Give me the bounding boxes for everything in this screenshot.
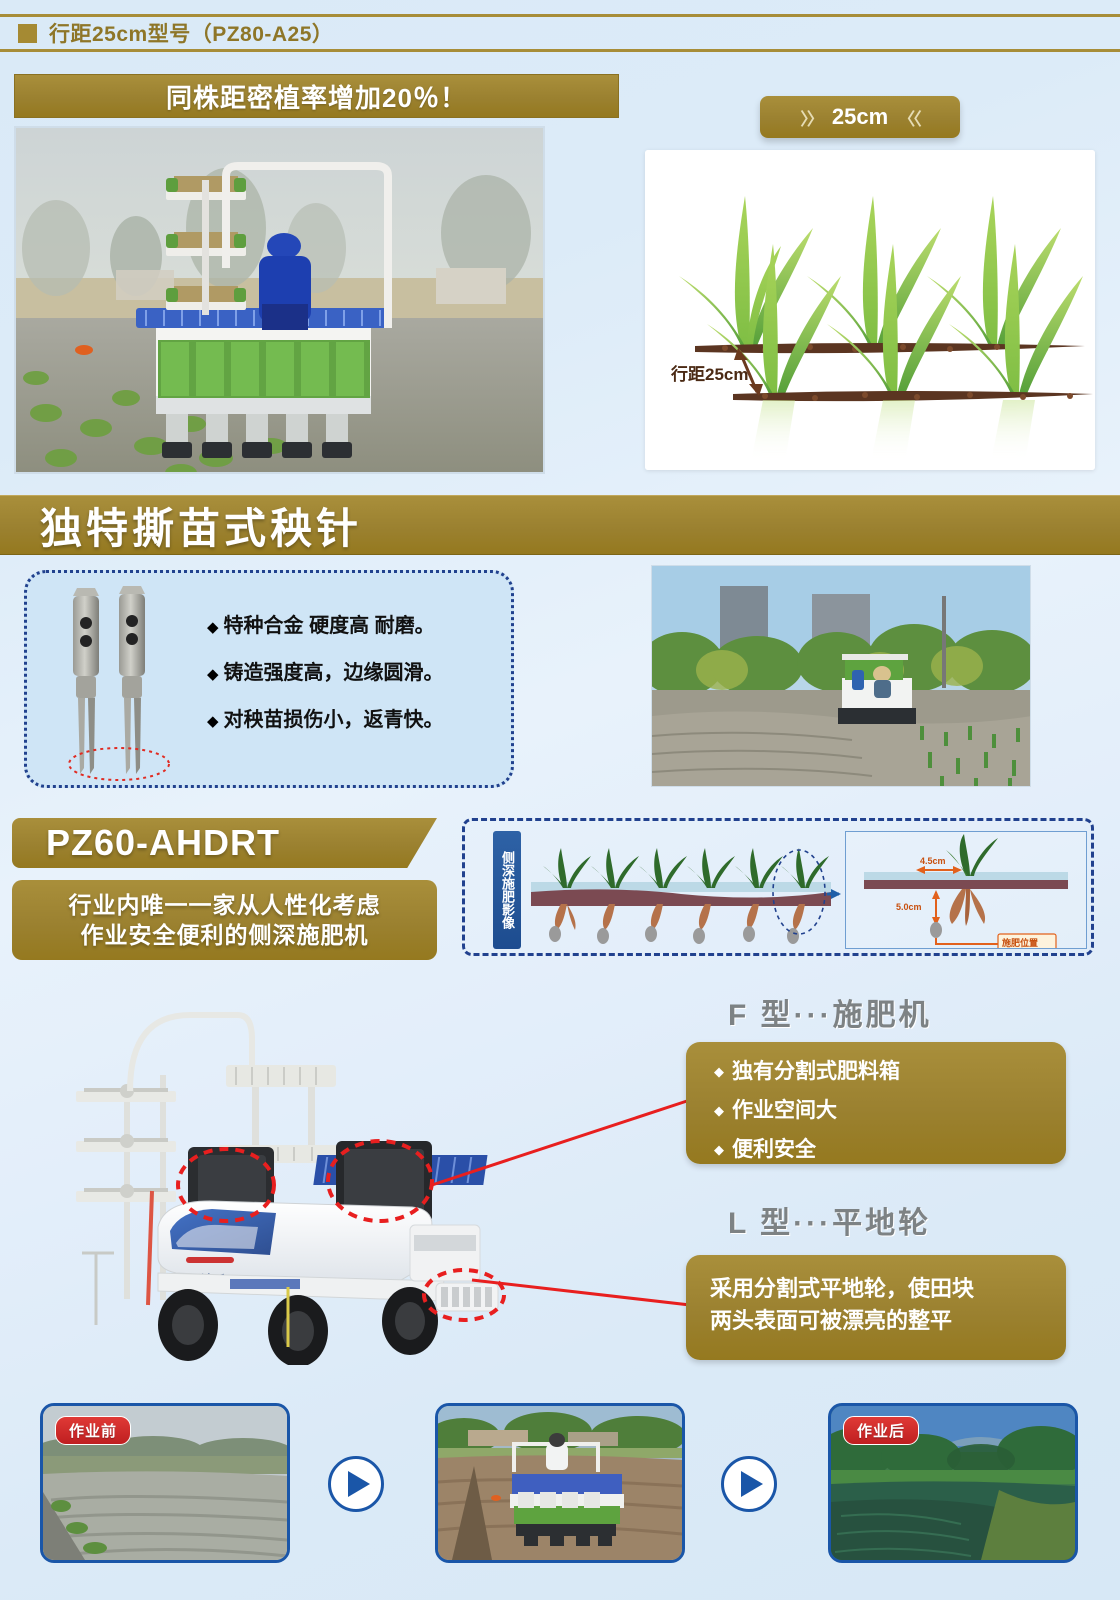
before-tag-badge: 作业前 (55, 1416, 131, 1445)
square-marker-icon (18, 24, 37, 43)
diamond-bullet-icon: ◆ (714, 1103, 724, 1118)
pz60-machine-photo: 神禾 (40, 995, 660, 1365)
fert-vertical-label-text: 侧深施肥影像 (500, 851, 514, 929)
density-banner: 同株距密植率增加20％！ (14, 74, 619, 118)
leveling-wheel (436, 1283, 498, 1311)
list-item: ◆独有分割式肥料箱 (714, 1055, 1066, 1085)
transplanter-photo-art (16, 128, 545, 474)
list-item: ◆对秧苗损伤小，返青快。 (207, 703, 507, 732)
l-type-line-1: 采用分割式平地轮，使田块 (710, 1273, 1066, 1305)
page-header: 行距25cm型号（PZ80-A25） (0, 14, 1120, 52)
fertilizer-position-label: 施肥位置 (1002, 937, 1038, 948)
row-spacing-diagram: 行距25cm (645, 150, 1095, 470)
needle-banner: 独特撕苗式秧针 (0, 495, 1120, 555)
field-work-photo-art (652, 566, 1031, 787)
after-operation-photo: 作业后 (828, 1403, 1078, 1563)
model-name-tag: PZ60-AHDRT (12, 818, 437, 868)
fert-depth-illustration: 4.5cm 5.0cm 施肥位置 (846, 832, 1086, 948)
f-type-bullet-text: 独有分割式肥料箱 (732, 1060, 900, 1083)
row-spacing-badge: 〉〉 25cm 〈〈 (760, 96, 960, 138)
list-item: ◆铸造强度高，边缘圆滑。 (207, 656, 507, 685)
needle-bullet-text: 特种合金 硬度高 耐磨。 (224, 615, 435, 637)
row-spacing-value: 25cm (832, 104, 888, 130)
diamond-bullet-icon: ◆ (207, 666, 219, 683)
play-triangle-icon (348, 1471, 370, 1497)
needle-bullet-list: ◆特种合金 硬度高 耐磨。 ◆铸造强度高，边缘圆滑。 ◆对秧苗损伤小，返青快。 (207, 609, 507, 750)
model-slogan-box: 行业内唯一一家从人性化考虑 作业安全便利的侧深施肥机 (12, 880, 437, 960)
slogan-line-1: 行业内唯一一家从人性化考虑 (69, 890, 381, 920)
side-deep-fertilizer-diagram: 侧深施肥影像 (462, 818, 1094, 956)
diamond-bullet-icon: ◆ (207, 619, 219, 636)
diamond-bullet-icon: ◆ (714, 1064, 724, 1079)
needle-bullet-text: 铸造强度高，边缘圆滑。 (224, 662, 444, 684)
operating-photo-art (438, 1406, 682, 1560)
horizontal-depth-label: 4.5cm (920, 856, 946, 866)
seedling-needle-photo (45, 578, 205, 788)
needle-feature-card: ◆特种合金 硬度高 耐磨。 ◆铸造强度高，边缘圆滑。 ◆对秧苗损伤小，返青快。 (24, 570, 514, 788)
needle-bullet-text: 对秧苗损伤小，返青快。 (224, 709, 444, 731)
row-spacing-diagram-label: 行距25cm (670, 364, 748, 384)
l-type-line-2: 两头表面可被漂亮的整平 (710, 1305, 1066, 1337)
diamond-bullet-icon: ◆ (714, 1142, 724, 1157)
fertilizer-row-illustration (531, 830, 841, 950)
page-title: 行距25cm型号（PZ80-A25） (49, 18, 333, 48)
vertical-depth-label: 5.0cm (896, 902, 922, 912)
rice-rows-illustration: 行距25cm (645, 150, 1095, 470)
field-work-photo (651, 565, 1031, 787)
play-button-2[interactable] (721, 1456, 777, 1512)
after-tag-badge: 作业后 (843, 1416, 919, 1445)
before-operation-photo: 作业前 (40, 1403, 290, 1563)
vertical-depth-arrow (932, 890, 940, 926)
operating-photo (435, 1403, 685, 1563)
fertilizer-pellet (930, 922, 942, 938)
play-button-1[interactable] (328, 1456, 384, 1512)
f-type-heading: F 型···施肥机 (728, 990, 932, 1034)
fert-zoom-detail-box: 4.5cm 5.0cm 施肥位置 (845, 831, 1087, 949)
chevron-right-icon: 〉〉 (800, 105, 822, 130)
fert-diagram-vertical-label: 侧深施肥影像 (493, 831, 521, 949)
chevron-left-icon: 〈〈 (898, 105, 920, 130)
f-type-bullet-text: 便利安全 (732, 1138, 816, 1161)
list-item: ◆便利安全 (714, 1133, 1066, 1163)
f-type-bullet-text: 作业空间大 (732, 1099, 837, 1122)
l-type-feature-box: 采用分割式平地轮，使田块 两头表面可被漂亮的整平 (686, 1255, 1066, 1360)
f-type-feature-box: ◆独有分割式肥料箱 ◆作业空间大 ◆便利安全 (686, 1042, 1066, 1164)
diamond-bullet-icon: ◆ (207, 713, 219, 730)
list-item: ◆作业空间大 (714, 1094, 1066, 1124)
l-type-heading: L 型···平地轮 (728, 1198, 931, 1242)
list-item: ◆特种合金 硬度高 耐磨。 (207, 609, 507, 638)
transplanter-photo (14, 126, 545, 474)
play-triangle-icon (741, 1471, 763, 1497)
slogan-line-2: 作业安全便利的侧深施肥机 (81, 920, 369, 950)
